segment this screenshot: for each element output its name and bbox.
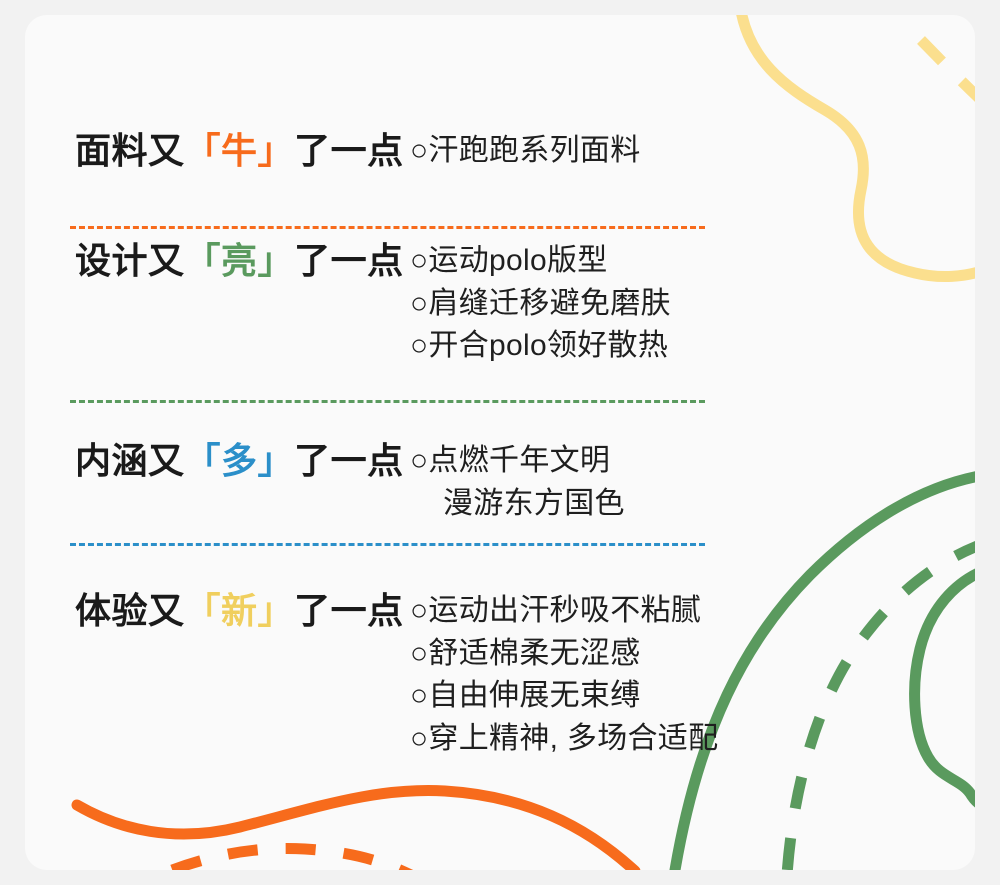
bullet-marker-icon: ○ <box>410 594 428 627</box>
bullet-item: ○汗跑跑系列面料 <box>410 130 641 173</box>
bullet-text: 漫游东方国色 <box>443 487 625 520</box>
bullets-experience: ○运动出汗秒吸不粘腻 ○舒适棉柔无涩感 ○自由伸展无束缚 ○穿上精神, 多场合适… <box>410 590 718 760</box>
bullet-marker-icon: ○ <box>410 329 428 362</box>
headline-experience-prefix: 体验又 <box>75 590 185 631</box>
divider-fabric <box>70 226 705 229</box>
headline-culture-bracket-close: 」 <box>258 440 295 481</box>
headline-culture: 内涵又「多」了一点 <box>75 440 404 481</box>
headline-experience-keyword: 新 <box>221 590 258 631</box>
content-layer: 面料又「牛」了一点 ○汗跑跑系列面料 设计又「亮」了一点 ○运动polo版型 ○… <box>25 15 975 870</box>
headline-experience-bracket-open: 「 <box>185 590 222 631</box>
headline-experience: 体验又「新」了一点 <box>75 590 404 631</box>
bullet-marker-icon: ○ <box>410 722 428 755</box>
headline-design: 设计又「亮」了一点 <box>75 240 404 281</box>
bullet-item: ○自由伸展无束缚 <box>410 675 718 718</box>
bullet-item: ○舒适棉柔无涩感 <box>410 633 718 676</box>
headline-experience-suffix: 了一点 <box>294 590 404 631</box>
poster-root: 面料又「牛」了一点 ○汗跑跑系列面料 设计又「亮」了一点 ○运动polo版型 ○… <box>0 0 1000 885</box>
headline-culture-suffix: 了一点 <box>294 440 404 481</box>
bullet-item: ○运动polo版型 <box>410 240 671 283</box>
headline-fabric-bracket-open: 「 <box>185 130 222 171</box>
bullet-item: ○运动出汗秒吸不粘腻 <box>410 590 718 633</box>
feature-card: 面料又「牛」了一点 ○汗跑跑系列面料 设计又「亮」了一点 ○运动polo版型 ○… <box>25 15 975 870</box>
bullets-design: ○运动polo版型 ○肩缝迁移避免磨肤 ○开合polo领好散热 <box>410 240 671 368</box>
bullet-marker-icon: ○ <box>410 679 428 712</box>
headline-fabric-suffix: 了一点 <box>294 130 404 171</box>
bullet-marker-icon: ○ <box>410 244 428 277</box>
bullet-marker-icon: ○ <box>410 444 428 477</box>
headline-culture-bracket-open: 「 <box>185 440 222 481</box>
headline-design-prefix: 设计又 <box>75 240 185 281</box>
headline-fabric-keyword: 牛 <box>221 130 258 171</box>
divider-design <box>70 400 705 403</box>
bullet-marker-icon: ○ <box>410 637 428 670</box>
headline-experience-bracket-close: 」 <box>258 590 295 631</box>
headline-design-bracket-close: 」 <box>258 240 295 281</box>
bullet-item: ○穿上精神, 多场合适配 <box>410 718 718 761</box>
bullets-culture: ○点燃千年文明 漫游东方国色 <box>410 440 625 525</box>
bullet-text: 汗跑跑系列面料 <box>428 134 640 167</box>
bullet-item: ○点燃千年文明 <box>410 440 625 483</box>
headline-culture-keyword: 多 <box>221 440 258 481</box>
bullet-text: 穿上精神, 多场合适配 <box>428 722 718 755</box>
headline-fabric-prefix: 面料又 <box>75 130 185 171</box>
bullet-text: 肩缝迁移避免磨肤 <box>428 287 670 320</box>
bullet-text: 舒适棉柔无涩感 <box>428 637 640 670</box>
bullet-item: ○开合polo领好散热 <box>410 325 671 368</box>
bullet-text: 运动出汗秒吸不粘腻 <box>428 594 701 627</box>
bullet-marker-icon: ○ <box>410 287 428 320</box>
bullet-marker-icon: ○ <box>410 134 428 167</box>
bullet-text: 开合polo领好散热 <box>428 329 668 362</box>
bullet-text: 点燃千年文明 <box>428 444 610 477</box>
headline-design-keyword: 亮 <box>221 240 258 281</box>
headline-fabric: 面料又「牛」了一点 <box>75 130 404 171</box>
headline-design-suffix: 了一点 <box>294 240 404 281</box>
headline-fabric-bracket-close: 」 <box>258 130 295 171</box>
divider-culture <box>70 543 705 546</box>
bullet-item: ○肩缝迁移避免磨肤 <box>410 283 671 326</box>
headline-culture-prefix: 内涵又 <box>75 440 185 481</box>
bullets-fabric: ○汗跑跑系列面料 <box>410 130 641 173</box>
bullet-text: 运动polo版型 <box>428 244 607 277</box>
bullet-text: 自由伸展无束缚 <box>428 679 640 712</box>
headline-design-bracket-open: 「 <box>185 240 222 281</box>
bullet-item-continuation: 漫游东方国色 <box>410 483 625 526</box>
